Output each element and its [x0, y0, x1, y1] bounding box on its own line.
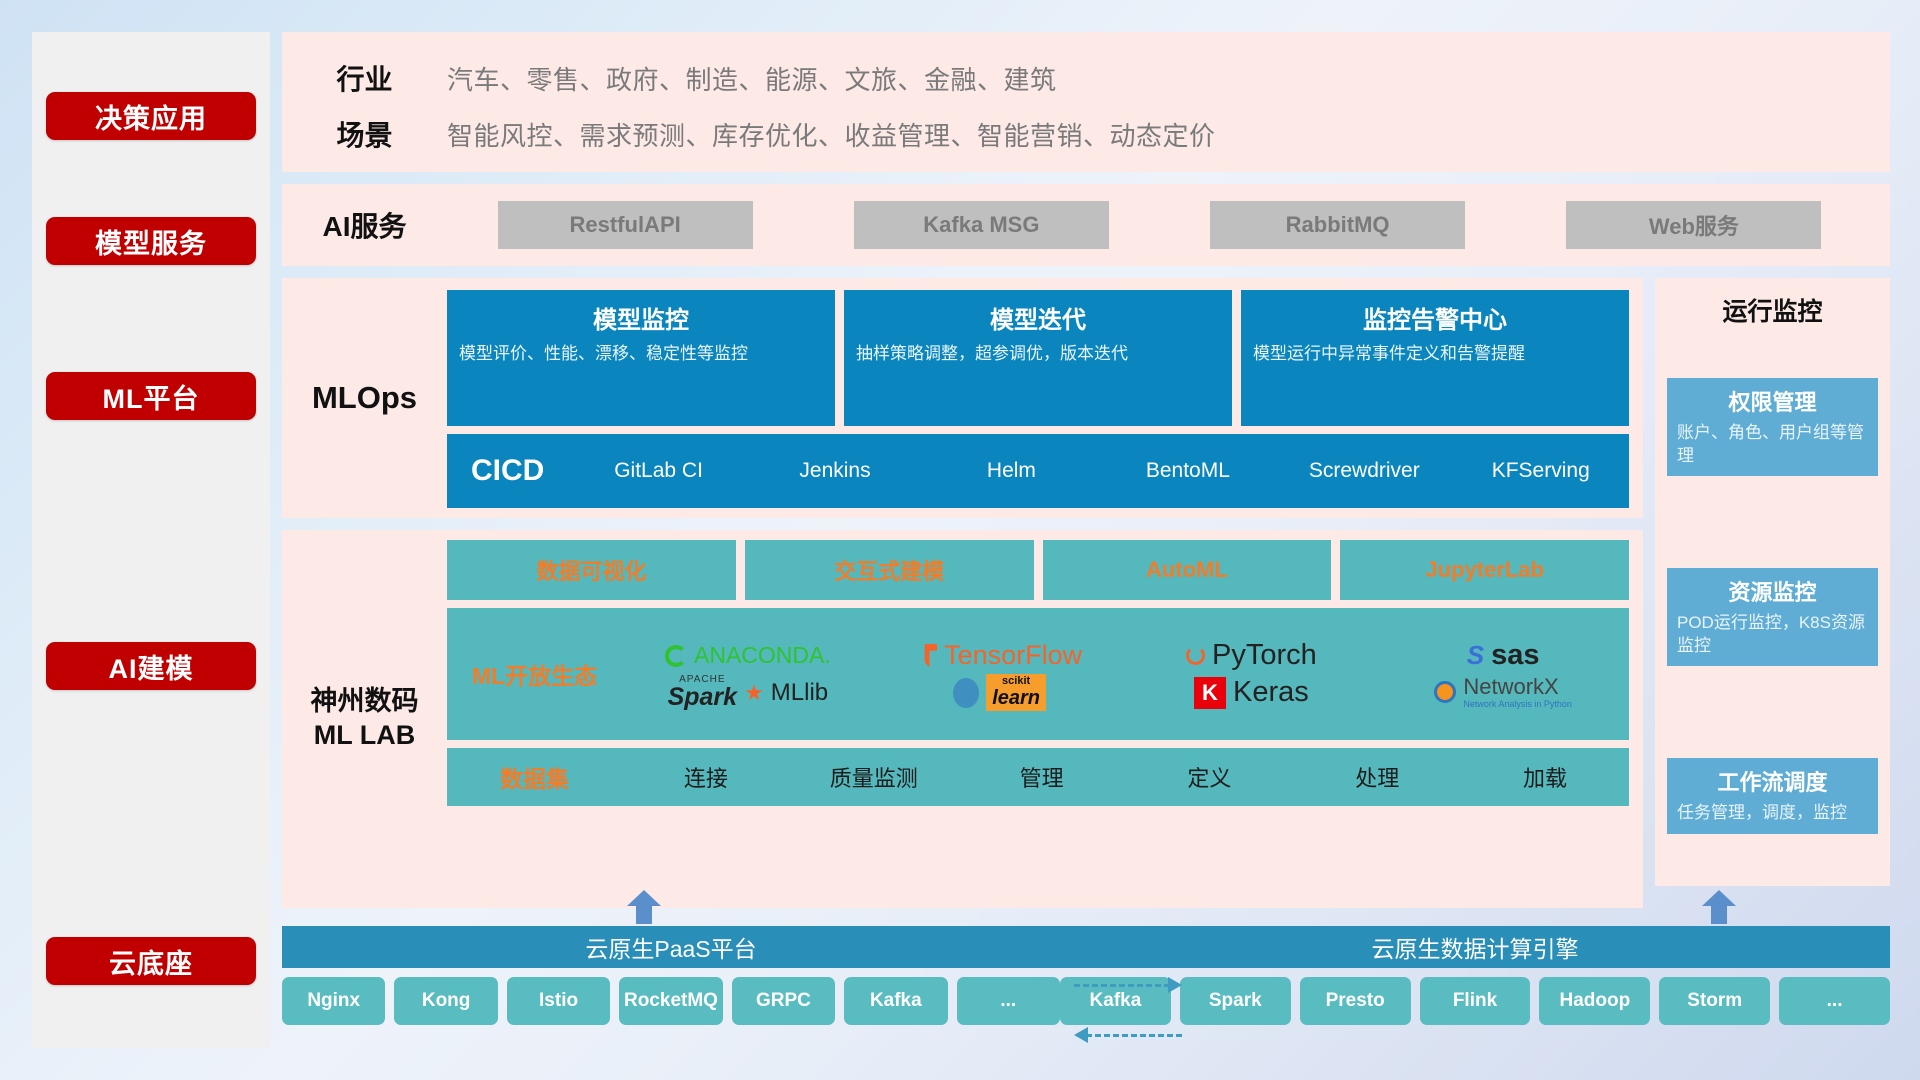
mlops-main: MLOps 模型监控 模型评价、性能、漂移、稳定性等监控 模型迭代 抽样策略调整… [282, 278, 1643, 518]
data-chip-spark[interactable]: Spark [1180, 977, 1291, 1025]
mlops-card-model-iteration[interactable]: 模型迭代 抽样策略调整，超参调优，版本迭代 [844, 290, 1232, 426]
anaconda-label: ANACONDA. [694, 642, 831, 669]
cicd-title: CICD [447, 454, 570, 488]
ai-service-chip-rabbitmq[interactable]: RabbitMQ [1210, 201, 1465, 249]
anaconda-ring-icon [665, 645, 687, 667]
data-chip-hadoop[interactable]: Hadoop [1539, 977, 1650, 1025]
band-divider-2 [282, 266, 1890, 278]
networkx-graph-icon [1434, 681, 1456, 703]
rail-item-cloud-base[interactable]: 云底座 [46, 937, 256, 985]
cloud-chip-more[interactable]: ... [957, 977, 1060, 1025]
card-title: 模型迭代 [856, 300, 1220, 335]
tool-chip-data-visualization[interactable]: 数据可视化 [447, 540, 736, 600]
data-chip-presto[interactable]: Presto [1300, 977, 1411, 1025]
ml-lab-main: 神州数码 ML LAB 数据可视化 交互式建模 AutoML JupyterLa… [282, 530, 1643, 908]
runtime-monitor-rail: 运行监控 权限管理 账户、角色、用户组等管理 资源监控 POD运行监控，K8S资… [1655, 278, 1890, 886]
cloud-data-engine-column: 云原生数据计算引擎 Kafka Spark Presto Flink Hadoo… [1060, 926, 1890, 1025]
card-desc: 模型运行中异常事件定义和告警提醒 [1253, 343, 1617, 366]
layer-stack: 行业 汽车、零售、政府、制造、能源、文旅、金融、建筑 场景 智能风控、需求预测、… [282, 32, 1890, 1048]
decision-app-band: 行业 汽车、零售、政府、制造、能源、文旅、金融、建筑 场景 智能风控、需求预测、… [282, 32, 1890, 172]
cloud-chip-kafka[interactable]: Kafka [844, 977, 947, 1025]
cloud-data-engine-chip-group: Kafka Spark Presto Flink Hadoop Storm ..… [1060, 968, 1890, 1025]
mlops-band: MLOps 模型监控 模型评价、性能、漂移、稳定性等监控 模型迭代 抽样策略调整… [282, 278, 1890, 518]
mlops-body: 模型监控 模型评价、性能、漂移、稳定性等监控 模型迭代 抽样策略调整，超参调优，… [447, 278, 1643, 518]
ml-open-ecosystem-logo-group: ANACONDA. TensorFlow PyTorch [622, 637, 1629, 711]
ai-service-chip-restfulapi[interactable]: RestfulAPI [498, 201, 753, 249]
runtime-monitor-title: 运行监控 [1667, 288, 1878, 338]
dataset-label: 数据集 [447, 760, 622, 794]
cicd-item-gitlab-ci[interactable]: GitLab CI [570, 460, 746, 482]
spark-star-icon: ★ [744, 680, 764, 706]
band-divider-1 [282, 172, 1890, 184]
cloud-chip-nginx[interactable]: Nginx [282, 977, 385, 1025]
tool-chip-interactive-modeling[interactable]: 交互式建模 [745, 540, 1034, 600]
rail-item-decision-app[interactable]: 决策应用 [46, 92, 256, 140]
tool-chip-jupyterlab[interactable]: JupyterLab [1340, 540, 1629, 600]
rail-item-ai-modeling[interactable]: AI建模 [46, 642, 256, 690]
data-chip-more[interactable]: ... [1779, 977, 1890, 1025]
band-divider-3 [282, 518, 1890, 530]
learn-label: learn [992, 687, 1040, 710]
tensorflow-mark-icon [917, 644, 937, 668]
ml-open-ecosystem-label: ML开放生态 [447, 657, 622, 691]
sas-swirl-icon: S [1467, 640, 1484, 671]
cloud-data-engine-head: 云原生数据计算引擎 [1060, 926, 1890, 968]
ai-service-chip-kafka-msg[interactable]: Kafka MSG [854, 201, 1109, 249]
anaconda-logo: ANACONDA. [622, 642, 874, 669]
cloud-base-band: 云原生PaaS平台 Nginx Kong Istio RocketMQ GRPC… [282, 908, 1890, 1048]
dataset-row: 数据集 连接 质量监测 管理 定义 处理 加载 [447, 748, 1629, 806]
networkx-sublabel: Network Analysis in Python [1463, 700, 1572, 710]
cloud-chip-kong[interactable]: Kong [394, 977, 497, 1025]
mlops-label: MLOps [282, 278, 447, 518]
card-desc: 抽样策略调整，超参调优，版本迭代 [856, 343, 1220, 366]
ml-lab-label-line2: ML LAB [314, 719, 416, 753]
cicd-item-bentoml[interactable]: BentoML [1100, 460, 1276, 482]
pytorch-logo: PyTorch [1126, 639, 1378, 672]
card-desc: 任务管理，调度，监控 [1677, 802, 1868, 824]
runtime-monitor-card-group: 权限管理 账户、角色、用户组等管理 资源监控 POD运行监控，K8S资源监控 工… [1667, 338, 1878, 874]
cloud-paas-head: 云原生PaaS平台 [282, 926, 1060, 968]
cloud-chip-rocketmq[interactable]: RocketMQ [619, 977, 722, 1025]
ai-service-label: AI服务 [282, 205, 447, 245]
scikit-learn-logo: scikit learn [874, 674, 1126, 711]
dataset-item-load[interactable]: 加载 [1461, 761, 1629, 793]
cicd-item-kfserving[interactable]: KFServing [1453, 460, 1629, 482]
card-desc: POD运行监控，K8S资源监控 [1677, 612, 1868, 656]
dataset-item-quality-monitoring[interactable]: 质量监测 [790, 761, 958, 793]
ml-lab-body: 数据可视化 交互式建模 AutoML JupyterLab ML开放生态 ANA… [447, 530, 1643, 908]
industry-row: 行业 汽车、零售、政府、制造、能源、文旅、金融、建筑 [282, 50, 1890, 106]
card-title: 工作流调度 [1677, 765, 1868, 797]
networkx-logo: NetworkX Network Analysis in Python [1377, 675, 1629, 709]
ai-service-chip-group: RestfulAPI Kafka MSG RabbitMQ Web服务 [447, 201, 1890, 249]
cicd-item-helm[interactable]: Helm [923, 460, 1099, 482]
industry-values: 汽车、零售、政府、制造、能源、文旅、金融、建筑 [447, 60, 1057, 97]
up-arrow-paas-icon [627, 890, 661, 924]
card-title: 权限管理 [1677, 385, 1868, 417]
tool-chip-automl[interactable]: AutoML [1043, 540, 1332, 600]
ai-modeling-band: 神州数码 ML LAB 数据可视化 交互式建模 AutoML JupyterLa… [282, 530, 1890, 908]
tensorflow-logo: TensorFlow [874, 640, 1126, 671]
ml-lab-label: 神州数码 ML LAB [282, 530, 447, 908]
rail-item-model-service[interactable]: 模型服务 [46, 217, 256, 265]
data-chip-flink[interactable]: Flink [1420, 977, 1531, 1025]
spark-mllib-logo: APACHE Spark ★ MLlib [622, 675, 874, 710]
cloud-chip-grpc[interactable]: GRPC [732, 977, 835, 1025]
cicd-item-screwdriver[interactable]: Screwdriver [1276, 460, 1452, 482]
mlops-card-group: 模型监控 模型评价、性能、漂移、稳定性等监控 模型迭代 抽样策略调整，超参调优，… [447, 290, 1629, 426]
scikit-blob-icon [953, 678, 979, 708]
arrow-left-icon [1074, 1034, 1182, 1036]
scenario-row: 场景 智能风控、需求预测、库存优化、收益管理、智能营销、动态定价 [282, 106, 1890, 162]
dataset-item-manage[interactable]: 管理 [958, 761, 1126, 793]
arrow-right-icon [1074, 984, 1182, 986]
cicd-item-jenkins[interactable]: Jenkins [747, 460, 923, 482]
cloud-paas-column: 云原生PaaS平台 Nginx Kong Istio RocketMQ GRPC… [282, 926, 1060, 1025]
ai-service-chip-web-service[interactable]: Web服务 [1566, 201, 1821, 249]
card-desc: 账户、角色、用户组等管理 [1677, 422, 1868, 466]
keras-logo: K Keras [1126, 676, 1378, 709]
monitor-card-permission[interactable]: 权限管理 账户、角色、用户组等管理 [1667, 378, 1878, 475]
dataset-item-process[interactable]: 处理 [1293, 761, 1461, 793]
cicd-item-group: GitLab CI Jenkins Helm BentoML Screwdriv… [570, 460, 1629, 482]
sas-logo: S sas [1377, 639, 1629, 672]
scenario-label: 场景 [282, 114, 447, 154]
dataset-item-group: 连接 质量监测 管理 定义 处理 加载 [622, 761, 1629, 793]
card-title: 模型监控 [459, 300, 823, 335]
industry-label: 行业 [282, 58, 447, 98]
cicd-row: CICD GitLab CI Jenkins Helm BentoML Scre… [447, 434, 1629, 508]
mlops-card-model-monitoring[interactable]: 模型监控 模型评价、性能、漂移、稳定性等监控 [447, 290, 835, 426]
architecture-diagram: 决策应用 模型服务 ML平台 AI建模 云底座 行业 汽车、零售、政府、制造、能… [32, 32, 1888, 1048]
card-title: 资源监控 [1677, 575, 1868, 607]
up-arrow-data-engine-icon [1702, 890, 1736, 924]
mlops-card-alert-center[interactable]: 监控告警中心 模型运行中异常事件定义和告警提醒 [1241, 290, 1629, 426]
keras-label: Keras [1233, 676, 1309, 709]
scenario-values: 智能风控、需求预测、库存优化、收益管理、智能营销、动态定价 [447, 116, 1216, 153]
ml-open-ecosystem-row: ML开放生态 ANACONDA. TensorFlow [447, 608, 1629, 740]
monitor-card-workflow[interactable]: 工作流调度 任务管理，调度，监控 [1667, 758, 1878, 833]
ai-service-band: AI服务 RestfulAPI Kafka MSG RabbitMQ Web服务 [282, 184, 1890, 266]
keras-mark-icon: K [1194, 677, 1226, 709]
data-chip-storm[interactable]: Storm [1659, 977, 1770, 1025]
card-desc: 模型评价、性能、漂移、稳定性等监控 [459, 343, 823, 366]
pytorch-label: PyTorch [1212, 639, 1317, 672]
networkx-label: NetworkX [1463, 675, 1558, 699]
card-title: 监控告警中心 [1253, 300, 1617, 335]
tensorflow-label: TensorFlow [944, 640, 1082, 671]
ml-lab-tool-group: 数据可视化 交互式建模 AutoML JupyterLab [447, 540, 1629, 600]
ml-lab-label-line1: 神州数码 [311, 685, 419, 719]
dataset-item-connect[interactable]: 连接 [622, 761, 790, 793]
pytorch-flame-icon [1186, 646, 1205, 665]
sas-label: sas [1491, 639, 1539, 672]
mllib-label: MLlib [771, 679, 828, 707]
scikit-label: scikit [1002, 675, 1030, 687]
layer-rail: 决策应用 模型服务 ML平台 AI建模 云底座 [32, 32, 270, 1048]
monitor-card-resource[interactable]: 资源监控 POD运行监控，K8S资源监控 [1667, 568, 1878, 665]
cloud-chip-istio[interactable]: Istio [507, 977, 610, 1025]
spark-label: Spark [668, 685, 737, 710]
cloud-paas-chip-group: Nginx Kong Istio RocketMQ GRPC Kafka ... [282, 968, 1060, 1025]
rail-item-ml-platform[interactable]: ML平台 [46, 372, 256, 420]
dataset-item-define[interactable]: 定义 [1125, 761, 1293, 793]
